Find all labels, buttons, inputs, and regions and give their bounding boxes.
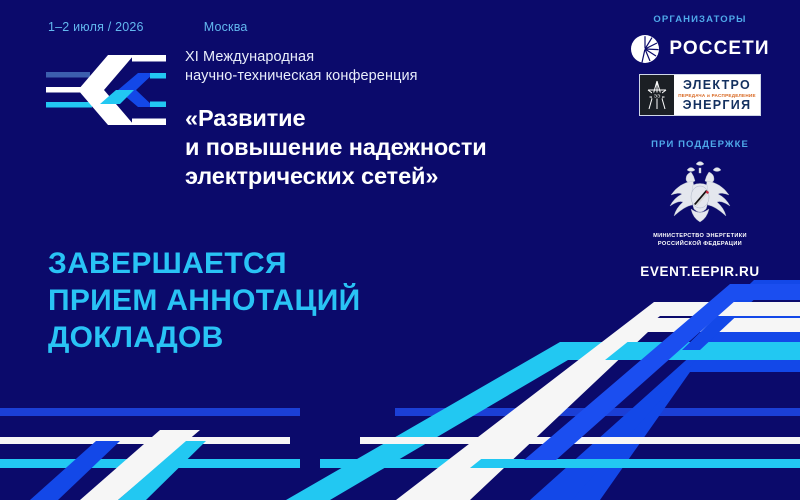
announcement-line-1: ЗАВЕРШАЕТСЯ bbox=[48, 245, 360, 282]
meta-row: 1–2 июля / 2026 Москва bbox=[48, 20, 248, 34]
double-headed-eagle-icon bbox=[663, 159, 737, 225]
ministry-logo: МИНИСТЕРСТВО ЭНЕРГЕТИКИ РОССИЙСКОЙ ФЕДЕР… bbox=[625, 159, 775, 248]
sponsor-rail: ОРГАНИЗАТОРЫ РОССЕТИ bbox=[600, 14, 800, 279]
headline-block: XI Международная научно-техническая конф… bbox=[185, 48, 585, 191]
title-line-2: и повышение надежности bbox=[185, 133, 585, 162]
power-tower-icon: ЭЭ bbox=[640, 75, 674, 115]
announcement-text: ЗАВЕРШАЕТСЯ ПРИЕМ АННОТАЦИЙ ДОКЛАДОВ bbox=[48, 245, 360, 356]
kicker-line-2: научно-техническая конференция bbox=[185, 67, 585, 86]
conference-banner: 1–2 июля / 2026 Москва XI Международная … bbox=[0, 0, 800, 500]
elektroenergia-logo: ЭЭ ЭЛЕКТРО ПЕРЕДАЧА и РАСПРЕДЕЛЕНИЕ ЭНЕР… bbox=[639, 74, 761, 116]
ee-line-3: ЭНЕРГИЯ bbox=[683, 99, 752, 112]
title-line-1: «Развитие bbox=[185, 104, 585, 133]
support-label: ПРИ ПОДДЕРЖКЕ bbox=[600, 139, 800, 150]
conference-kicker: XI Международная научно-техническая конф… bbox=[185, 48, 585, 86]
rosseti-logo: РОССЕТИ bbox=[600, 34, 800, 64]
announcement-line-3: ДОКЛАДОВ bbox=[48, 319, 360, 356]
rosseti-emblem-icon bbox=[630, 34, 660, 64]
svg-text:ЭЭ: ЭЭ bbox=[654, 93, 661, 98]
kicker-line-1: XI Международная bbox=[185, 48, 585, 67]
event-city: Москва bbox=[204, 20, 248, 34]
ministry-caption: МИНИСТЕРСТВО ЭНЕРГЕТИКИ РОССИЙСКОЙ ФЕДЕР… bbox=[625, 232, 775, 248]
rosseti-wordmark: РОССЕТИ bbox=[669, 38, 769, 60]
ee-line-1: ЭЛЕКТРО bbox=[683, 79, 751, 92]
elektroenergia-wordmark: ЭЛЕКТРО ПЕРЕДАЧА и РАСПРЕДЕЛЕНИЕ ЭНЕРГИЯ bbox=[674, 75, 760, 115]
conference-logo-icon bbox=[46, 52, 166, 142]
announcement-line-2: ПРИЕМ АННОТАЦИЙ bbox=[48, 282, 360, 319]
event-dates: 1–2 июля / 2026 bbox=[48, 20, 144, 34]
event-site-url[interactable]: EVENT.EEPIR.RU bbox=[600, 264, 800, 279]
ministry-caption-line-2: РОССИЙСКОЙ ФЕДЕРАЦИИ bbox=[625, 240, 775, 248]
conference-title: «Развитие и повышение надежности электри… bbox=[185, 104, 585, 191]
title-line-3: электрических сетей» bbox=[185, 162, 585, 191]
organizers-label: ОРГАНИЗАТОРЫ bbox=[600, 14, 800, 25]
ministry-caption-line-1: МИНИСТЕРСТВО ЭНЕРГЕТИКИ bbox=[625, 232, 775, 240]
